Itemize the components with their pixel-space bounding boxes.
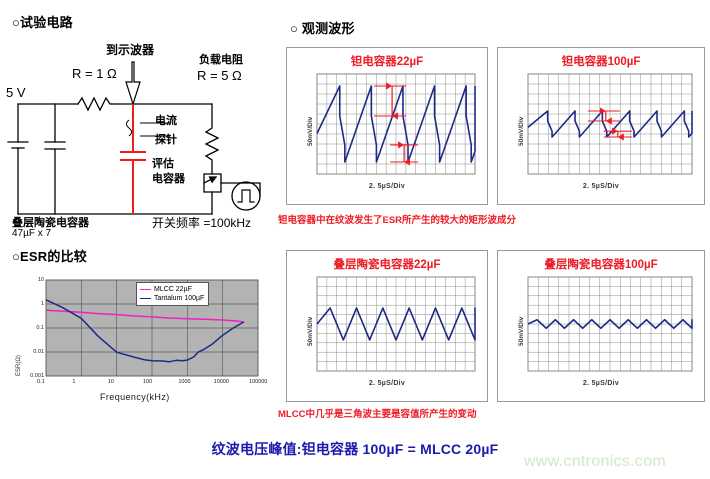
to-oscilloscope-label: 到示波器: [106, 41, 154, 58]
waveform-panel-tantalum-100uf: 钽电容器100µFESR电压50mV/Div2. 5µS/Div: [497, 47, 705, 205]
waveform-x-axis-label: 2. 5µS/Div: [287, 380, 487, 387]
evaluated-capacitor-branch: [120, 104, 146, 214]
mlcc-annotation: MLCC中几乎是三角波主要是容值所产生的变动: [278, 406, 476, 420]
legend-entry: MLCC 22µF: [140, 285, 204, 294]
esr-x-tick: 10000: [214, 379, 229, 385]
waveform-x-axis-label: 2. 5µS/Div: [498, 183, 704, 190]
esr-x-tick: 100000: [249, 379, 267, 385]
waveform-x-axis-label: 2. 5µS/Div: [287, 183, 487, 190]
waveform-panel-mlcc-100uf: 叠层陶瓷电容器100µF50mV/Div2. 5µS/Div: [497, 250, 705, 402]
esr-y-tick: 10: [30, 277, 44, 283]
load-resistor-value: R = 5 Ω: [197, 68, 242, 83]
load-resistor-label: 负载电阻: [199, 51, 243, 67]
bulk-cap-label-2: 47µF x 7: [12, 228, 51, 239]
probe-label: 探针: [155, 131, 177, 147]
waveform-panel-mlcc-22uf: 叠层陶瓷电容器22µF50mV/Div2. 5µS/Div: [286, 250, 488, 402]
esr-x-tick: 1000: [178, 379, 190, 385]
esr-section-title: ○ESR的比较: [12, 246, 87, 265]
watermark: www.cntronics.com: [524, 453, 666, 471]
evaluated-cap-label-1: 评估: [152, 155, 174, 171]
esr-x-tick: 1: [72, 379, 75, 385]
waveform-y-axis-label: 50mV/Div: [518, 117, 525, 146]
tantalum-annotation: 钽电容器中在纹波发生了ESR所产生的较大的矩形波成分: [278, 212, 516, 226]
waveform-y-axis-label: 50mV/Div: [307, 117, 314, 146]
esr-x-tick: 100: [143, 379, 152, 385]
waveform-x-axis-label: 2. 5µS/Div: [498, 380, 704, 387]
esr-y-tick: 1: [30, 301, 44, 307]
esr-comparison-chart: ESR(Ω) Frequency(kHz) MLCC 22µFTantalum …: [8, 268, 276, 408]
series-resistor-label: R = 1 Ω: [72, 66, 117, 81]
evaluated-cap-label-2: 电容器: [152, 170, 185, 186]
legend-entry: Tantalum 100µF: [140, 294, 204, 303]
waveform-panel-tantalum-22uf: 钽电容器22µFESR电压50mV/Div2. 5µS/Div: [286, 47, 488, 205]
esr-x-tick: 10: [108, 379, 114, 385]
waveform-section-title: ○ 观测波形: [290, 18, 355, 37]
scope-probe-arrow: [126, 62, 140, 104]
switching-frequency-label: 开关频率 =100kHz: [152, 214, 251, 231]
supply-voltage-label: 5 V: [6, 85, 26, 100]
waveform-y-axis-label: 50mV/Div: [307, 317, 314, 346]
esr-y-tick: 0.001: [30, 373, 44, 379]
esr-y-tick: 0.01: [30, 349, 44, 355]
esr-x-axis-label: Frequency(kHz): [100, 392, 170, 402]
waveform-y-axis-label: 50mV/Div: [518, 317, 525, 346]
current-label: 电流: [155, 112, 177, 128]
esr-chart-legend: MLCC 22µFTantalum 100µF: [136, 282, 209, 306]
esr-y-axis-label: ESR(Ω): [16, 355, 22, 376]
esr-x-tick: 0.1: [37, 379, 45, 385]
esr-y-tick: 0.1: [30, 325, 44, 331]
